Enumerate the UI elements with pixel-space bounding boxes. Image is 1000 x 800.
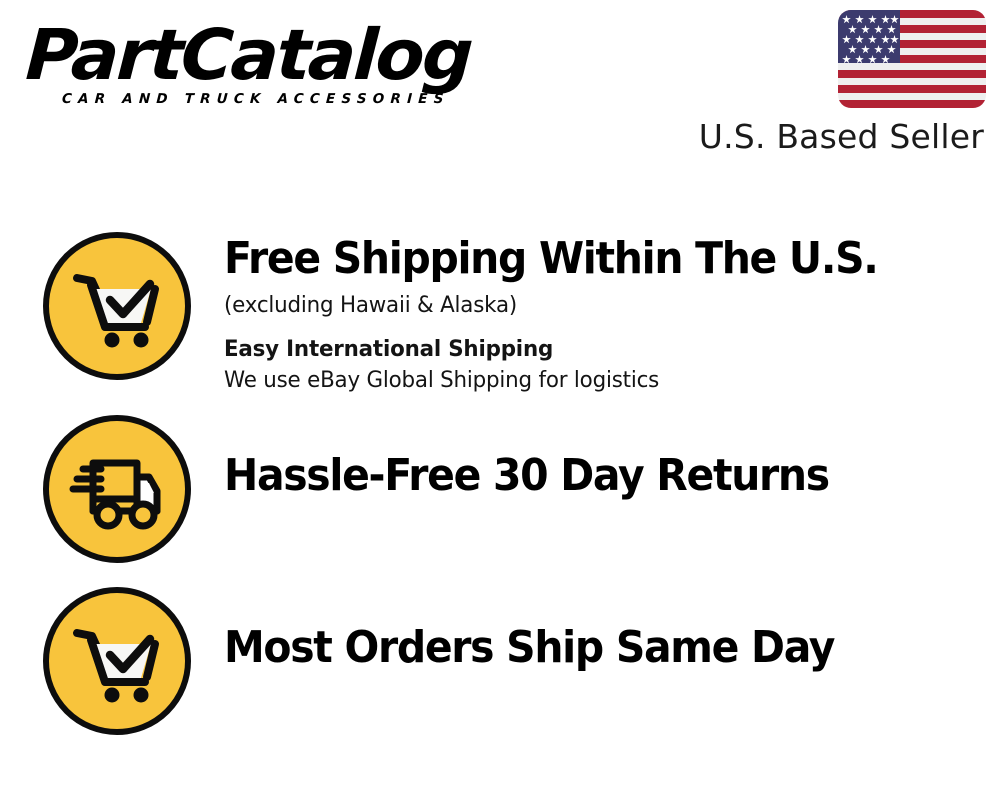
feature-list: Free Shipping Within The U.S. (excluding… <box>0 232 1000 754</box>
feature-row-free-shipping: Free Shipping Within The U.S. (excluding… <box>0 232 1000 410</box>
feature-headline: Free Shipping Within The U.S. <box>224 235 946 282</box>
brand-logo-tagline: CAR AND TRUCK ACCESSORIES <box>62 91 497 107</box>
brand-logo: PartCatalog CAR AND TRUCK ACCESSORIES <box>26 22 496 107</box>
feature-text-free-shipping: Free Shipping Within The U.S. (excluding… <box>191 232 1000 394</box>
flag-canton <box>838 10 900 63</box>
feature-headline: Most Orders Ship Same Day <box>224 624 946 671</box>
feature-row-returns: Hassle-Free 30 Day Returns <box>0 410 1000 582</box>
feature-headline: Hassle-Free 30 Day Returns <box>224 452 946 499</box>
feature-text-returns: Hassle-Free 30 Day Returns <box>191 410 1000 499</box>
feature-text-same-day-ship: Most Orders Ship Same Day <box>191 582 1000 671</box>
feature-row-same-day-ship: Most Orders Ship Same Day <box>0 582 1000 754</box>
us-based-seller-badge: U.S. Based Seller <box>686 10 986 155</box>
feature-sub-heading: Easy International Shipping <box>224 335 961 363</box>
feature-subline: (excluding Hawaii & Alaska) <box>224 291 961 319</box>
feature-sub-detail: We use eBay Global Shipping for logistic… <box>224 366 961 394</box>
shopping-cart-check-icon <box>43 232 191 380</box>
shipping-info-banner: PartCatalog CAR AND TRUCK ACCESSORIES <box>0 0 1000 800</box>
brand-logo-wordmark: PartCatalog <box>24 22 507 89</box>
us-flag-icon <box>838 10 986 108</box>
shopping-cart-check-icon <box>43 587 191 735</box>
delivery-truck-icon <box>43 415 191 563</box>
us-based-seller-label: U.S. Based Seller <box>686 119 984 155</box>
